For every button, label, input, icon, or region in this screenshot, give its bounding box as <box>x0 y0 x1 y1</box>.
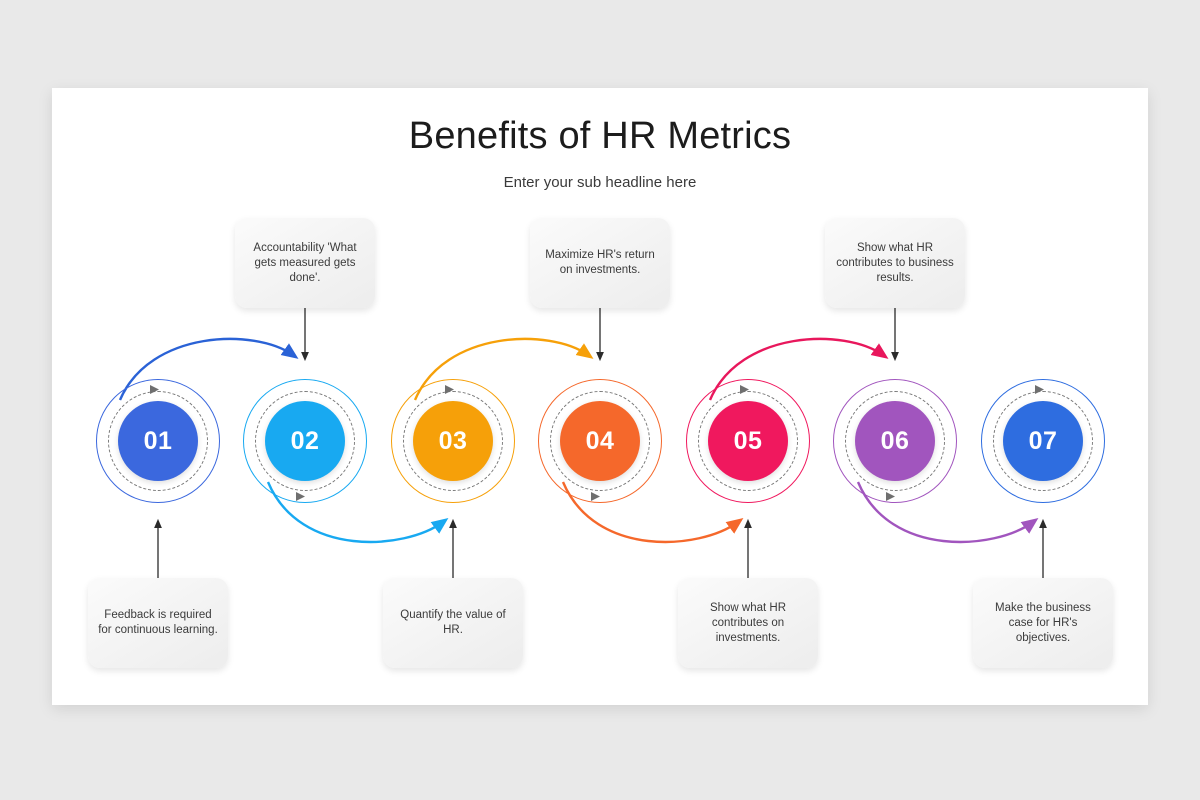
callout-bottom-2-text: Quantify the value of HR. <box>393 608 513 638</box>
step-core-07: 07 <box>1003 401 1083 481</box>
step-number-06: 06 <box>881 427 910 456</box>
callout-bottom-3[interactable]: Show what HR contributes on investments. <box>678 578 818 668</box>
step-node-06[interactable]: 06 <box>833 379 957 503</box>
callout-bottom-3-text: Show what HR contributes on investments. <box>688 601 808 646</box>
step-node-05[interactable]: 05 <box>686 379 810 503</box>
callout-top-1-text: Accountability 'What gets measured gets … <box>245 241 365 286</box>
callout-bottom-4[interactable]: Make the business case for HR's objectiv… <box>973 578 1113 668</box>
callout-bottom-1[interactable]: Feedback is required for continuous lear… <box>88 578 228 668</box>
infographic-stage: Benefits of HR Metrics Enter your sub he… <box>0 0 1200 800</box>
step-core-01: 01 <box>118 401 198 481</box>
callout-top-1[interactable]: Accountability 'What gets measured gets … <box>235 218 375 308</box>
step-core-02: 02 <box>265 401 345 481</box>
step-number-01: 01 <box>144 427 173 456</box>
callout-bottom-1-text: Feedback is required for continuous lear… <box>98 608 218 638</box>
step-core-03: 03 <box>413 401 493 481</box>
callout-bottom-4-text: Make the business case for HR's objectiv… <box>983 601 1103 646</box>
step-core-06: 06 <box>855 401 935 481</box>
callout-top-3[interactable]: Show what HR contributes to business res… <box>825 218 965 308</box>
step-node-03[interactable]: 03 <box>391 379 515 503</box>
step-core-05: 05 <box>708 401 788 481</box>
callout-top-2-text: Maximize HR's return on investments. <box>540 248 660 278</box>
callout-top-3-text: Show what HR contributes to business res… <box>835 241 955 286</box>
page-title: Benefits of HR Metrics <box>0 115 1200 158</box>
step-node-07[interactable]: 07 <box>981 379 1105 503</box>
page-subtitle: Enter your sub headline here <box>0 174 1200 191</box>
callout-bottom-2[interactable]: Quantify the value of HR. <box>383 578 523 668</box>
step-number-02: 02 <box>291 427 320 456</box>
step-number-03: 03 <box>439 427 468 456</box>
step-number-07: 07 <box>1029 427 1058 456</box>
step-number-04: 04 <box>586 427 615 456</box>
step-node-01[interactable]: 01 <box>96 379 220 503</box>
step-node-02[interactable]: 02 <box>243 379 367 503</box>
step-number-05: 05 <box>734 427 763 456</box>
step-core-04: 04 <box>560 401 640 481</box>
callout-top-2[interactable]: Maximize HR's return on investments. <box>530 218 670 308</box>
step-node-04[interactable]: 04 <box>538 379 662 503</box>
